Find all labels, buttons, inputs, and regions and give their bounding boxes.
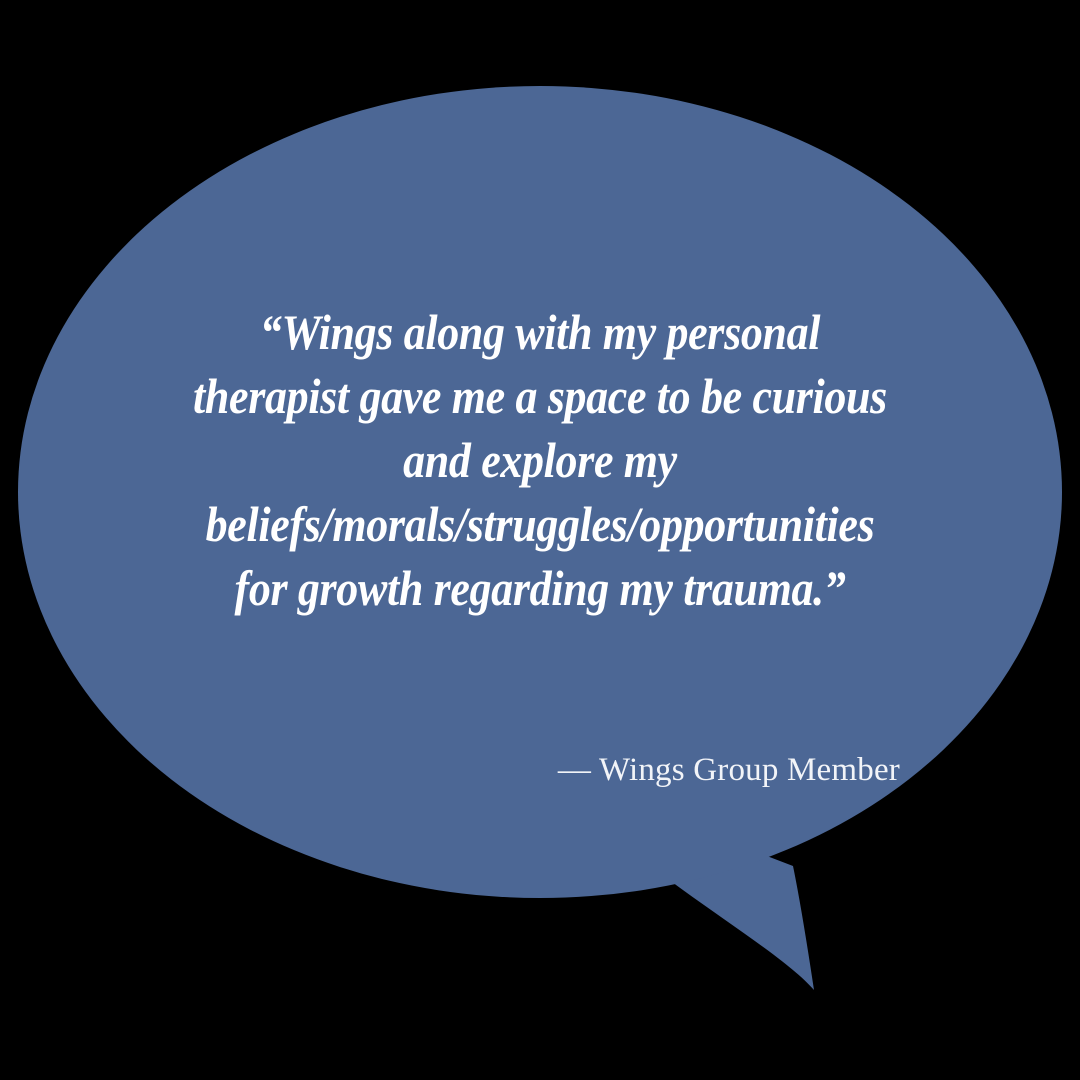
quote-line: beliefs/morals/struggles/opportunities bbox=[144, 492, 936, 556]
quote-text-block: “Wings along with my personal therapist … bbox=[90, 300, 990, 620]
quote-line: therapist gave me a space to be curious bbox=[144, 364, 936, 428]
testimonial-card: “Wings along with my personal therapist … bbox=[0, 0, 1080, 1080]
quote-line: “Wings along with my personal bbox=[144, 300, 936, 364]
quote-line: for growth regarding my trauma.” bbox=[144, 556, 936, 620]
attribution-text: — Wings Group Member bbox=[558, 752, 900, 788]
attribution-block: — Wings Group Member bbox=[90, 750, 900, 790]
quote-line: and explore my bbox=[144, 428, 936, 492]
